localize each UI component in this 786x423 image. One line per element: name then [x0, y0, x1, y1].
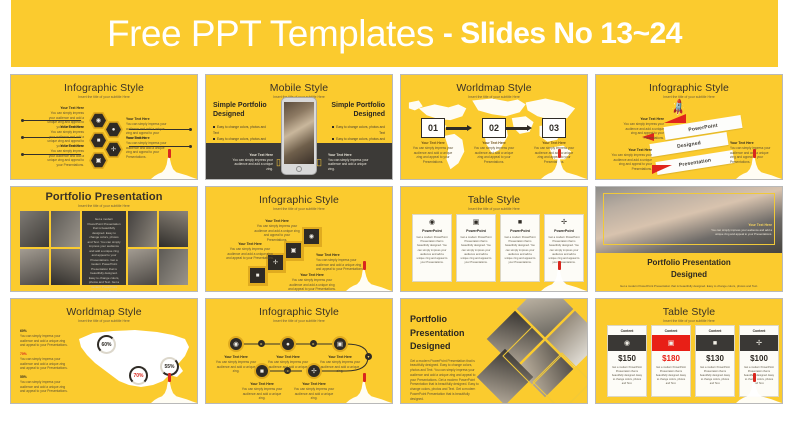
- footer-right-body: You can simply impress your audience and…: [328, 158, 370, 172]
- item-body: You can simply impress your audience and…: [620, 122, 664, 141]
- slide-title: Worldmap Style: [11, 306, 197, 318]
- connector-dot: [21, 153, 24, 156]
- slide-thumbnail-23[interactable]: Portfolio Presentation Designed Get a mo…: [400, 298, 588, 404]
- slide-subtitle: Insert the title of your subtitle Here: [596, 319, 782, 323]
- slide-title: Table Style: [596, 306, 782, 318]
- step-number-box: 03: [542, 118, 566, 138]
- slide-title: Infographic Style: [11, 82, 197, 94]
- step-body: You can simply impress your audience and…: [533, 146, 575, 165]
- slide-grid: Infographic Style Insert the title of yo…: [10, 74, 778, 404]
- connector-dot: [189, 128, 192, 131]
- landmark-flag-icon: [168, 149, 171, 158]
- slide-subtitle: Insert the title of your subtitle Here: [401, 207, 587, 211]
- phone-mockup: [281, 97, 317, 175]
- table-card[interactable]: ◉ PowerPoint Get a modern PowerPoint Pre…: [412, 214, 452, 282]
- price-card[interactable]: Content ■ $130 Get a modern PowerPoint P…: [695, 325, 735, 397]
- camera-icon: ▣: [652, 335, 690, 351]
- card-body: Get a modern PowerPoint Presentation tha…: [548, 236, 580, 265]
- price-value: $180: [652, 351, 690, 366]
- chevron-right-icon: ▸: [258, 340, 265, 347]
- slide-thumbnail-18[interactable]: Infographic Style Insert the title of yo…: [205, 186, 393, 292]
- slide-thumbnail-13[interactable]: Infographic Style Insert the title of yo…: [10, 74, 198, 180]
- legend-body: You can simply impress your audience and…: [20, 334, 68, 348]
- node-body: You can simply impress your audience and…: [214, 360, 258, 374]
- slide-title: Infographic Style: [206, 194, 392, 206]
- photo-tile: [20, 211, 49, 247]
- photo-tile: [159, 211, 188, 247]
- mosaic-center-text: Get a modern PowerPoint Presentation tha…: [82, 211, 126, 285]
- photo-caption: Your Text Here You can simply impress yo…: [710, 223, 772, 236]
- banner-subtitle: - Slides No 13~24: [443, 17, 682, 51]
- landmark-flag-icon: [363, 373, 366, 382]
- landmark-flag-icon: [558, 149, 561, 158]
- photo-tile: [20, 249, 49, 285]
- camera-icon: ▣: [460, 219, 492, 226]
- item-body: You can simply impress your audience and…: [126, 141, 170, 160]
- card-body: Get a modern PowerPoint Presentation tha…: [504, 236, 536, 265]
- slide-title: Infographic Style: [596, 82, 782, 94]
- banner-title: Free PPT Templates: [107, 13, 434, 55]
- right-heading-line2: Designed: [329, 110, 385, 119]
- bullet-item: Easy to change colors, photos and Text: [329, 125, 385, 137]
- globe-icon: ◉: [304, 229, 319, 244]
- table-card[interactable]: ▣ PowerPoint Get a modern PowerPoint Pre…: [456, 214, 496, 282]
- slide-thumbnail-20[interactable]: Your Text Here You can simply impress yo…: [595, 186, 783, 292]
- image-icon: ■: [504, 219, 536, 226]
- slide-thumbnail-16[interactable]: Infographic Style Insert the title of yo…: [595, 74, 783, 180]
- chevron-down-icon: ▾: [365, 353, 372, 360]
- image-icon: ■: [696, 335, 734, 351]
- slide-subtitle: Insert the title of your subtitle Here: [596, 95, 782, 99]
- photo-tile: [128, 211, 157, 247]
- mosaic-column: [51, 211, 80, 285]
- puzzle-icon: ✢: [548, 219, 580, 226]
- slide-title: Table Style: [401, 194, 587, 206]
- puzzle-icon: ✢: [740, 335, 778, 351]
- item-body: You can simply impress your audience and…: [730, 146, 774, 165]
- phone-screen-photo: [284, 102, 314, 164]
- card-heading: PowerPoint: [416, 229, 448, 233]
- image-icon: ▣: [332, 336, 348, 352]
- connector-dot: [21, 119, 24, 122]
- step-body: You can simply impress your audience and…: [473, 146, 515, 165]
- legend-body: You can simply impress your audience and…: [20, 357, 68, 371]
- price-body: Get a modern PowerPoint Presentation tha…: [652, 366, 690, 385]
- slide-thumbnail-15[interactable]: Worldmap Style Insert the title of your …: [400, 74, 588, 180]
- slide-thumbnail-22[interactable]: Infographic Style Insert the title of yo…: [205, 298, 393, 404]
- image-icon: ▣: [286, 243, 301, 258]
- price-value: $100: [740, 351, 778, 366]
- price-header: Content: [740, 326, 778, 335]
- slide-subtitle: Insert the title of your subtitle Here: [206, 207, 392, 211]
- node-body: You can simply impress your audience and…: [292, 387, 336, 401]
- mosaic-column: [128, 211, 157, 285]
- landmark-flag-icon: [558, 261, 561, 270]
- portfolio-heading-line1: Portfolio Presentation: [596, 257, 782, 269]
- slide-thumbnail-17[interactable]: Portfolio Presentation Insert the title …: [10, 186, 198, 292]
- item-body: You can simply impress your audience and…: [288, 278, 336, 292]
- landmark-flag-icon: [363, 261, 366, 270]
- item-body: You can simply impress your audience and…: [608, 153, 652, 172]
- portfolio-body: Get a modern PowerPoint Presentation tha…: [596, 284, 782, 288]
- diamond-mosaic: [467, 298, 588, 404]
- globe-icon: ◉: [416, 219, 448, 226]
- step-body: You can simply impress your audience and…: [412, 146, 454, 165]
- price-value: $130: [696, 351, 734, 366]
- left-heading-line1: Simple Portfolio: [213, 101, 269, 110]
- globe-icon: ◉: [228, 336, 244, 352]
- caption-body: You can simply impress your audience and…: [710, 228, 772, 236]
- donut-marker: 70%: [129, 366, 148, 385]
- photo-frame-outline: [603, 193, 775, 245]
- card-heading: PowerPoint: [460, 229, 492, 233]
- mosaic-column: [20, 211, 49, 285]
- slide-thumbnail-24[interactable]: Table Style Insert the title of your sub…: [595, 298, 783, 404]
- price-card[interactable]: Content ◉ $150 Get a modern PowerPoint P…: [607, 325, 647, 397]
- item-body: You can simply impress your audience and…: [226, 247, 274, 261]
- slide-title: Mobile Style: [206, 82, 392, 94]
- camera-icon: ■: [250, 268, 265, 283]
- landmark-flag-icon: [753, 149, 756, 158]
- slide-subtitle: Insert the title of your subtitle Here: [11, 204, 197, 208]
- item-body: You can simply impress your audience and…: [316, 258, 364, 272]
- step-number-box: 01: [421, 118, 445, 138]
- slide-thumbnail-14[interactable]: Mobile Style Insert the title of your su…: [205, 74, 393, 180]
- footer-left-body: You can simply impress your audience and…: [231, 158, 273, 172]
- mosaic-column: [159, 211, 188, 285]
- template-gallery-page: Free PPT Templates - Slides No 13~24 Inf…: [0, 0, 786, 423]
- slide-subtitle: Insert the title of your subtitle Here: [11, 95, 197, 99]
- price-body: Get a modern PowerPoint Presentation tha…: [740, 366, 778, 385]
- slide-subtitle: Insert the title of your subtitle Here: [401, 95, 587, 99]
- card-body: Get a modern PowerPoint Presentation tha…: [416, 236, 448, 265]
- card-heading: PowerPoint: [548, 229, 580, 233]
- connector-dot: [21, 136, 24, 139]
- portfolio-heading-line2: Designed: [596, 269, 782, 281]
- location-pin-icon: ●: [280, 336, 296, 352]
- legend-body: You can simply impress your audience and…: [20, 380, 68, 394]
- price-body: Get a modern PowerPoint Presentation tha…: [696, 366, 734, 385]
- landmark-flag-icon: [168, 373, 171, 382]
- landmark-flag-icon: [753, 373, 756, 382]
- node-body: You can simply impress your audience and…: [266, 360, 310, 374]
- price-header: Content: [608, 326, 646, 335]
- bullet-item: Easy to change colors, photos and Text: [213, 125, 269, 137]
- price-header: Content: [696, 326, 734, 335]
- donut-marker: 60%: [97, 335, 116, 354]
- price-card[interactable]: Content ✢ $100 Get a modern PowerPoint P…: [739, 325, 779, 397]
- slide-title: Portfolio Presentation: [11, 191, 197, 203]
- node-body: You can simply impress your audience and…: [318, 360, 362, 374]
- slide-title: Worldmap Style: [401, 82, 587, 94]
- globe-icon: ◉: [608, 335, 646, 351]
- photo-tile: [159, 249, 188, 285]
- left-heading-line2: Designed: [213, 110, 269, 119]
- connector-dot: [189, 145, 192, 148]
- step-arrow: [446, 127, 468, 130]
- page-banner: Free PPT Templates - Slides No 13~24: [11, 0, 778, 67]
- photo-tile: [128, 249, 157, 285]
- table-card[interactable]: ✢ PowerPoint Get a modern PowerPoint Pre…: [544, 214, 584, 282]
- chevron-right-icon: ▸: [310, 340, 317, 347]
- photo-tile: [51, 211, 80, 247]
- step-number-box: 02: [482, 118, 506, 138]
- card-body: Get a modern PowerPoint Presentation tha…: [460, 236, 492, 265]
- price-body: Get a modern PowerPoint Presentation tha…: [608, 366, 646, 385]
- phone-home-button: [296, 166, 302, 172]
- price-card[interactable]: Content ▣ $180 Get a modern PowerPoint P…: [651, 325, 691, 397]
- step-arrow: [506, 127, 528, 130]
- price-header: Content: [652, 326, 690, 335]
- table-card[interactable]: ■ PowerPoint Get a modern PowerPoint Pre…: [500, 214, 540, 282]
- photo-tile: [51, 249, 80, 285]
- photo-mosaic: Get a modern PowerPoint Presentation tha…: [20, 211, 188, 285]
- price-value: $150: [608, 351, 646, 366]
- item-body: You can simply impress your audience and…: [254, 224, 300, 243]
- node-body: You can simply impress your audience and…: [240, 387, 284, 401]
- slide-thumbnail-21[interactable]: Worldmap Style Insert the title of your …: [10, 298, 198, 404]
- slide-thumbnail-19[interactable]: Table Style Insert the title of your sub…: [400, 186, 588, 292]
- right-heading-line1: Simple Portfolio: [329, 101, 385, 110]
- card-heading: PowerPoint: [504, 229, 536, 233]
- item-body: You can simply impress your audience and…: [44, 149, 84, 168]
